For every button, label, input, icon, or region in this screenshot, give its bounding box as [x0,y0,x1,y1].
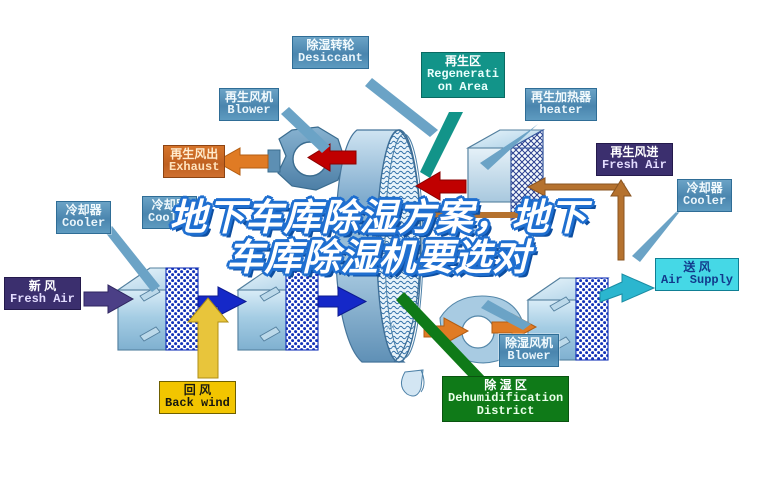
label-regeneration-area[interactable]: 再生区 Regenerati on Area [421,52,505,98]
label-cooler-right-en: Cooler [683,195,726,208]
label-dehum-blower[interactable]: 除湿风机 Blower [499,334,559,367]
label-fresh-air-cn: 新 风 [10,280,75,293]
label-exhaust[interactable]: 再生风出 Exhaust [163,145,225,178]
label-regen-fresh-air[interactable]: 再生风进 Fresh Air [596,143,673,176]
label-regeneration-area-cn: 再生区 [427,55,499,68]
label-fresh-air[interactable]: 新 风 Fresh Air [4,277,81,310]
label-cooler-mid-en: Cooler [148,212,191,225]
schematic-drawing: xlt [0,0,757,488]
label-dehumidification-cn: 除 湿 区 [448,379,563,392]
label-desiccant[interactable]: 除湿转轮 Desiccant [292,36,369,69]
label-cooler-mid[interactable]: 冷却器 Cooler [142,196,197,229]
desiccant-rotor: xlt [336,130,424,396]
label-dehumidification-district[interactable]: 除 湿 区 Dehumidification District [442,376,569,422]
label-desiccant-cn: 除湿转轮 [298,39,363,52]
cooling-coil-left [118,268,198,350]
arrow-heater-up [611,180,631,260]
label-regen-heater[interactable]: 再生加热器 heater [525,88,597,121]
label-air-supply-en: Air Supply [661,274,733,287]
label-exhaust-en: Exhaust [169,161,219,174]
label-regeneration-area-en1: Regenerati [427,68,499,81]
label-dehumidification-en2: District [448,405,563,418]
label-air-supply-cn: 送 风 [661,261,733,274]
label-regen-blower-en: Blower [225,104,273,117]
label-cooler-left-cn: 冷却器 [62,204,105,217]
label-desiccant-en: Desiccant [298,52,363,65]
label-cooler-right[interactable]: 冷却器 Cooler [677,179,732,212]
label-exhaust-cn: 再生风出 [169,148,219,161]
label-back-wind-cn: 回 风 [165,384,230,397]
label-cooler-left-en: Cooler [62,217,105,230]
label-air-supply[interactable]: 送 风 Air Supply [655,258,739,291]
label-dehum-blower-en: Blower [505,350,553,363]
label-regen-fresh-air-cn: 再生风进 [602,146,667,159]
label-back-wind[interactable]: 回 风 Back wind [159,381,236,414]
svg-text:xlt: xlt [386,322,395,332]
label-cooler-right-cn: 冷却器 [683,182,726,195]
label-regen-heater-en: heater [531,104,591,117]
regeneration-heater [468,130,543,220]
label-dehum-blower-cn: 除湿风机 [505,337,553,350]
label-dehumidification-en1: Dehumidification [448,392,563,405]
label-regen-fresh-air-en: Fresh Air [602,159,667,172]
diagram-canvas: xlt [0,0,757,488]
label-regeneration-area-en2: on Area [427,81,499,94]
arrow-heater-to-rotor [416,172,466,200]
label-fresh-air-en: Fresh Air [10,293,75,306]
duct-heater-bottom [430,212,548,218]
label-regen-blower-cn: 再生风机 [225,91,273,104]
cooling-coil-mid [238,268,318,350]
label-regen-heater-cn: 再生加热器 [531,91,591,104]
label-back-wind-en: Back wind [165,397,230,410]
label-cooler-left[interactable]: 冷却器 Cooler [56,201,111,234]
label-regen-blower[interactable]: 再生风机 Blower [219,88,279,121]
label-cooler-mid-cn: 冷却器 [148,199,191,212]
arrow-heater-feed [528,178,624,196]
